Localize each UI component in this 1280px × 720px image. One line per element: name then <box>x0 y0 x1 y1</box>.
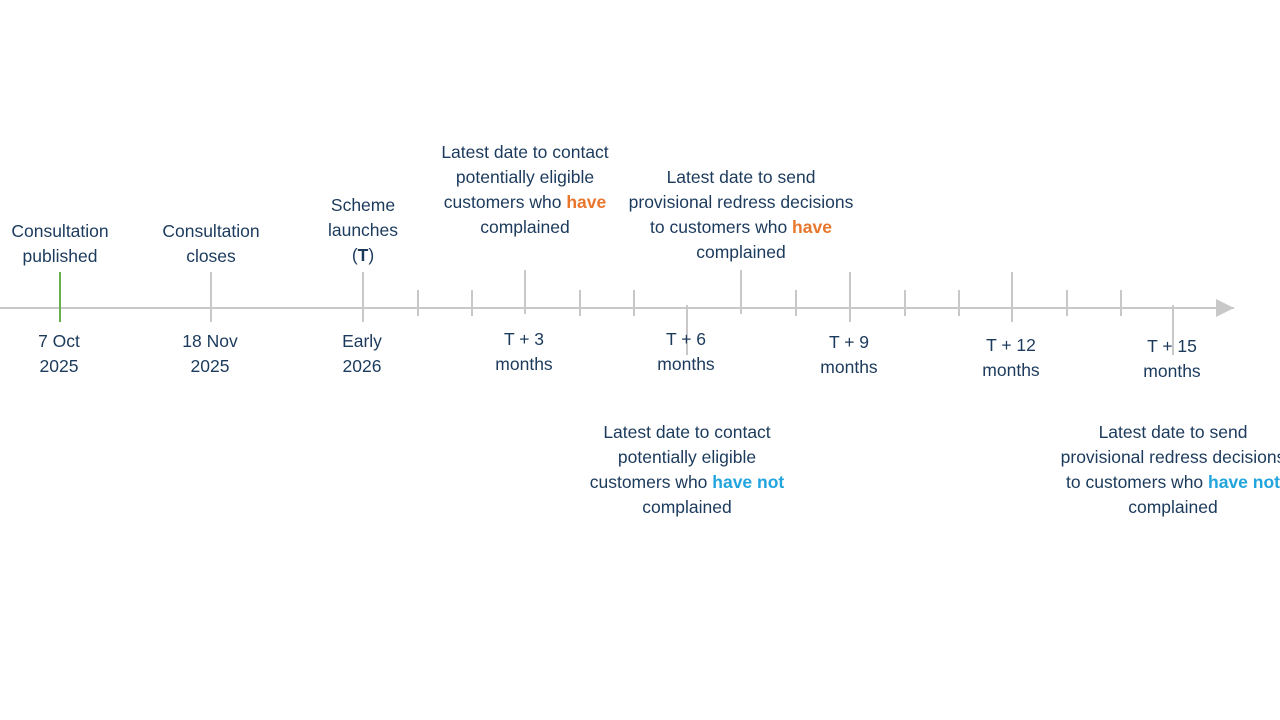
axis-minor-tick <box>471 290 473 316</box>
paren-close: ) <box>368 245 374 265</box>
tick-label-line2: months <box>606 352 766 377</box>
label-emphasis-have-not: have not <box>712 472 784 492</box>
axis-tick-label-early-2026: Early 2026 <box>282 329 442 379</box>
event-label-redress-have-complained: Latest date to send provisional redress … <box>626 165 856 265</box>
event-label-contact-have-not-complained: Latest date to contact potentially eligi… <box>582 420 792 520</box>
tick-label-line2: months <box>769 355 929 380</box>
axis-minor-tick <box>795 290 797 316</box>
axis-tick-label-t-plus-6: T + 6 months <box>606 327 766 377</box>
axis-tick-label-t-plus-15: T + 15 months <box>1092 334 1252 384</box>
tick-label-line2: months <box>931 358 1091 383</box>
label-text-post: complained <box>642 497 732 517</box>
event-label-line2: launches <box>283 218 443 243</box>
event-label-scheme-launches: Scheme launches (T) <box>283 193 443 268</box>
marker-tick-t-plus-12 <box>1011 272 1013 322</box>
tick-label-line1: T + 3 <box>444 327 604 352</box>
axis-tick-label-t-plus-9: T + 9 months <box>769 330 929 380</box>
label-emphasis-have: have <box>792 217 832 237</box>
tick-label-line2: 2026 <box>282 354 442 379</box>
axis-minor-tick <box>417 290 419 316</box>
axis-minor-tick <box>958 290 960 316</box>
event-label-redress-have-not-complained: Latest date to send provisional redress … <box>1058 420 1280 520</box>
tick-label-line1: T + 6 <box>606 327 766 352</box>
tick-label-line1: T + 15 <box>1092 334 1252 359</box>
axis-minor-tick <box>904 290 906 316</box>
axis-minor-tick <box>1066 290 1068 316</box>
tick-label-line2: months <box>444 352 604 377</box>
axis-tick-label-18-nov-2025: 18 Nov 2025 <box>130 329 290 379</box>
marker-tick-consultation-closes <box>210 272 212 322</box>
axis-minor-tick <box>633 290 635 316</box>
label-emphasis-have: have <box>566 192 606 212</box>
label-text-post: complained <box>696 242 786 262</box>
marker-tick-t-plus-9 <box>849 272 851 322</box>
tick-label-line2: months <box>1092 359 1252 384</box>
tick-label-line1: 7 Oct <box>0 329 139 354</box>
event-label-consultation-closes: Consultation closes <box>121 219 301 269</box>
marker-tick-consultation-published <box>59 272 61 322</box>
event-label-line1: Consultation <box>121 219 301 244</box>
event-label-contact-have-complained: Latest date to contact potentially eligi… <box>425 140 625 240</box>
label-text-post: complained <box>480 217 570 237</box>
axis-tick-label-7-oct-2025: 7 Oct 2025 <box>0 329 139 379</box>
tick-label-line2: 2025 <box>130 354 290 379</box>
event-label-line2: closes <box>121 244 301 269</box>
tick-label-line1: Early <box>282 329 442 354</box>
marker-tick-scheme-launches <box>362 272 364 322</box>
timeline-diagram: Consultation published Consultation clos… <box>0 0 1280 720</box>
callout-tick-contact-have <box>524 270 526 314</box>
tick-label-line2: 2025 <box>0 354 139 379</box>
timeline-axis-line <box>0 307 1234 309</box>
axis-tick-label-t-plus-3: T + 3 months <box>444 327 604 377</box>
timeline-axis-arrowhead <box>1216 299 1234 317</box>
scheme-launch-t-symbol: T <box>358 245 369 265</box>
tick-label-line1: T + 12 <box>931 333 1091 358</box>
label-text-post: complained <box>1128 497 1218 517</box>
axis-minor-tick <box>1120 290 1122 316</box>
tick-label-line1: 18 Nov <box>130 329 290 354</box>
axis-minor-tick <box>579 290 581 316</box>
axis-tick-label-t-plus-12: T + 12 months <box>931 333 1091 383</box>
tick-label-line1: T + 9 <box>769 330 929 355</box>
callout-tick-redress-have <box>740 270 742 314</box>
label-emphasis-have-not: have not <box>1208 472 1280 492</box>
event-label-line1: Scheme <box>283 193 443 218</box>
event-label-line3: (T) <box>283 243 443 268</box>
